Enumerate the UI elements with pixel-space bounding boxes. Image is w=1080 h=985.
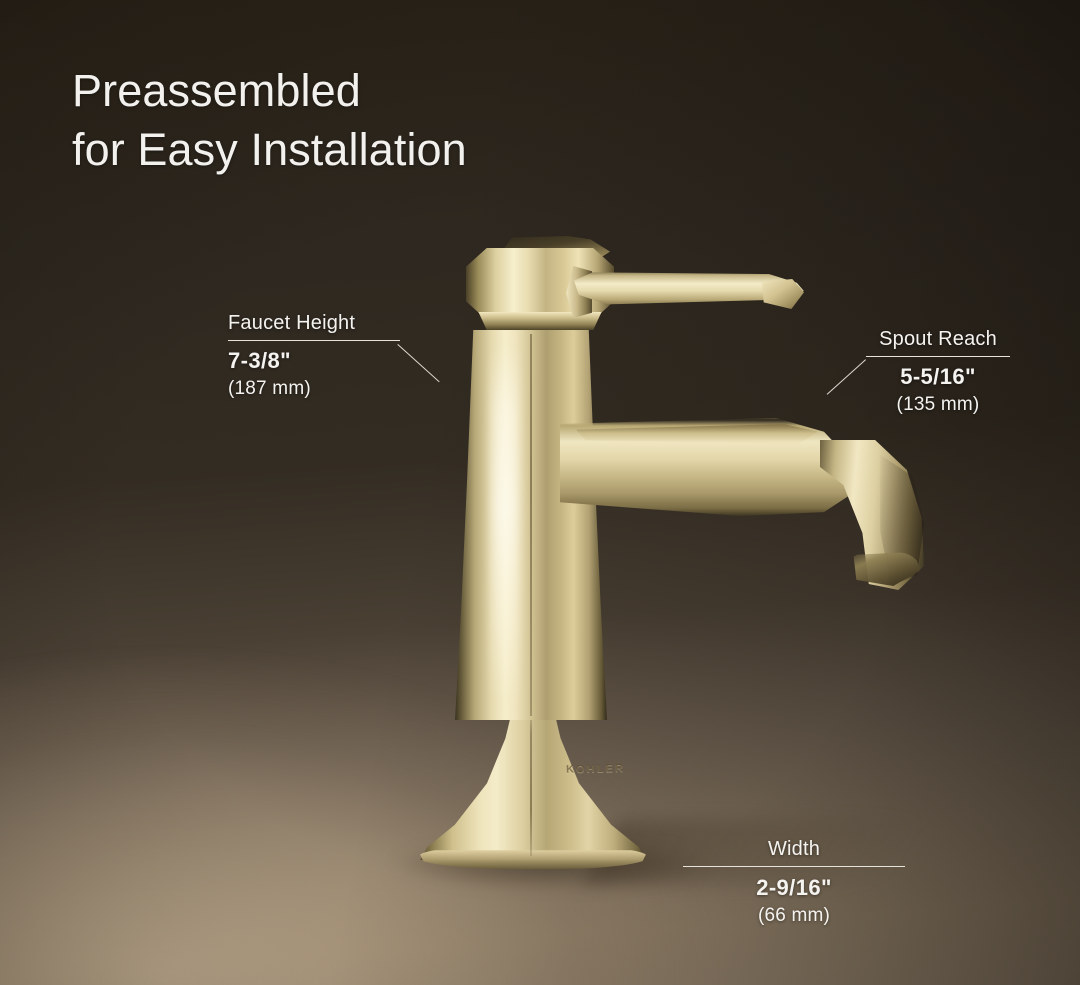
page-title: Preassembled for Easy Installation [72, 62, 467, 179]
callout-spout-reach-title: Spout Reach [866, 328, 1010, 351]
callout-width-rule [683, 866, 905, 867]
callout-faucet-height-title: Faucet Height [228, 312, 400, 335]
callout-width-title: Width [683, 838, 905, 861]
callout-spout-reach-metric: (135 mm) [866, 394, 1010, 416]
callout-faucet-height-metric: (187 mm) [228, 378, 400, 400]
callout-spout-reach-value: 5-5/16" [866, 364, 1010, 390]
callout-width: Width 2-9/16" (66 mm) [683, 838, 905, 927]
callout-faucet-height-rule [228, 340, 400, 341]
callout-spout-reach-rule [866, 356, 1010, 357]
callout-spout-reach: Spout Reach 5-5/16" (135 mm) [866, 328, 1010, 416]
product-dimension-graphic: Preassembled for Easy Installation KOHLE… [0, 0, 1080, 985]
callout-width-metric: (66 mm) [683, 905, 905, 927]
callout-faucet-height-value: 7-3/8" [228, 348, 400, 374]
callout-width-value: 2-9/16" [683, 875, 905, 901]
callout-faucet-height: Faucet Height 7-3/8" (187 mm) [228, 312, 400, 400]
